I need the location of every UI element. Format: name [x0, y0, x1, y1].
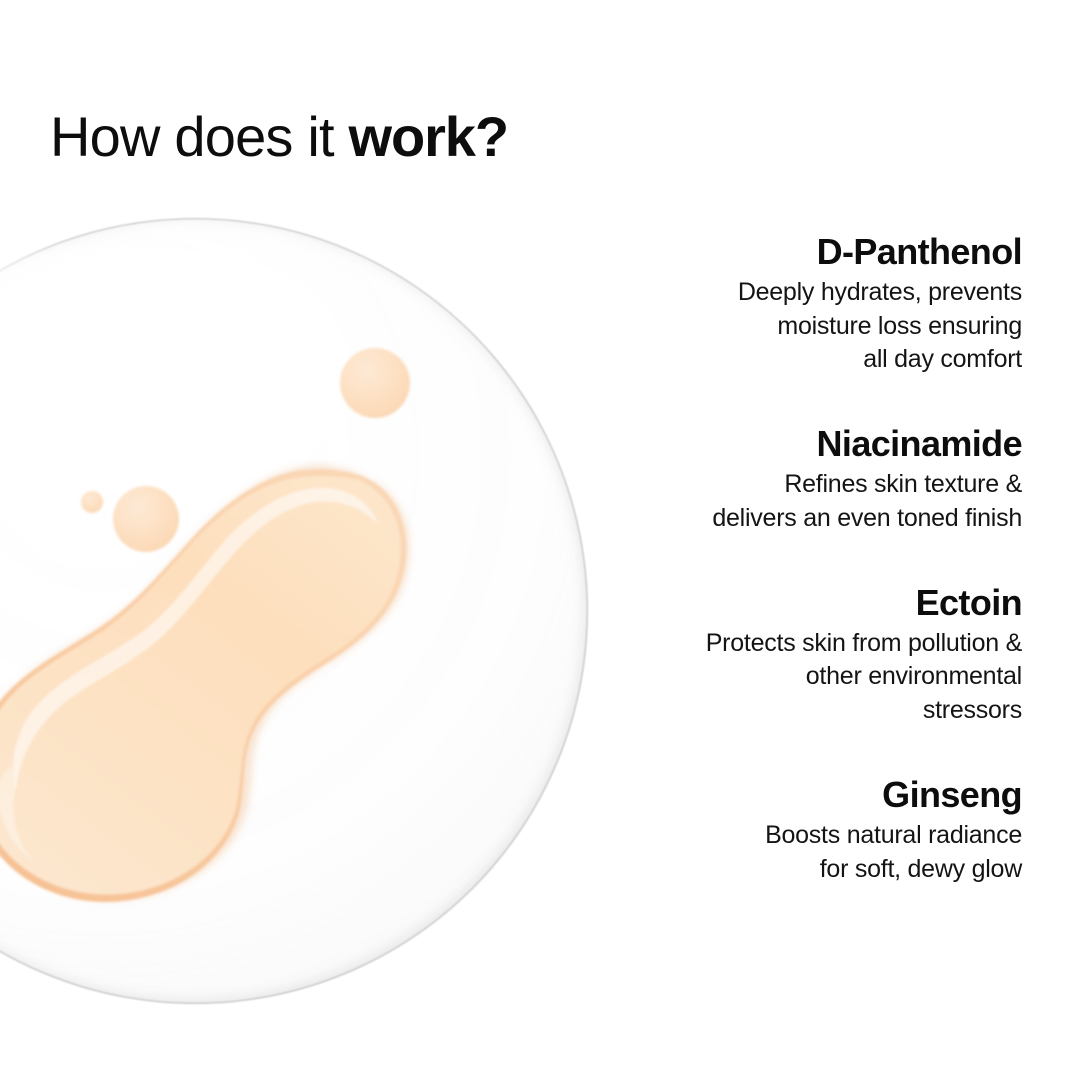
droplet-upper: [340, 348, 410, 418]
ingredient-description: Boosts natural radiance for soft, dewy g…: [592, 819, 1022, 886]
promo-card: How does it work?: [0, 0, 1080, 1080]
ingredient-description: Deeply hydrates, prevents moisture loss …: [592, 276, 1022, 376]
ingredient-description: Refines skin texture & delivers an even …: [592, 468, 1022, 535]
page-title-bold: work?: [349, 105, 508, 168]
ingredient-description-line: Protects skin from pollution &: [592, 627, 1022, 660]
ingredient-description-line: Deeply hydrates, prevents: [592, 276, 1022, 309]
ingredient-description: Protects skin from pollution & other env…: [592, 627, 1022, 727]
ingredient-item: Ectoin Protects skin from pollution & ot…: [592, 583, 1022, 727]
droplet-small-left: [81, 491, 103, 513]
serum-layer: [0, 218, 588, 1004]
ingredient-item: D-Panthenol Deeply hydrates, prevents mo…: [592, 232, 1022, 376]
ingredient-description-line: for soft, dewy glow: [592, 853, 1022, 886]
ingredient-description-line: Boosts natural radiance: [592, 819, 1022, 852]
ingredient-description-line: delivers an even toned finish: [592, 502, 1022, 535]
ingredient-description-line: other environmental: [592, 660, 1022, 693]
droplet-mid-left: [113, 486, 179, 552]
ingredient-description-line: moisture loss ensuring: [592, 310, 1022, 343]
ingredient-description-line: stressors: [592, 694, 1022, 727]
ingredient-item: Niacinamide Refines skin texture & deliv…: [592, 424, 1022, 535]
ingredient-name: Ginseng: [592, 775, 1022, 815]
ingredient-name: Ectoin: [592, 583, 1022, 623]
ingredient-description-line: Refines skin texture &: [592, 468, 1022, 501]
ingredient-description-line: all day comfort: [592, 343, 1022, 376]
product-visual: [0, 218, 588, 1004]
serum-blob: [0, 469, 406, 902]
page-title: How does it work?: [50, 106, 508, 169]
ingredient-item: Ginseng Boosts natural radiance for soft…: [592, 775, 1022, 886]
ingredient-name: D-Panthenol: [592, 232, 1022, 272]
page-title-regular: How does it: [50, 105, 349, 168]
ingredient-name: Niacinamide: [592, 424, 1022, 464]
ingredient-list: D-Panthenol Deeply hydrates, prevents mo…: [592, 232, 1022, 886]
